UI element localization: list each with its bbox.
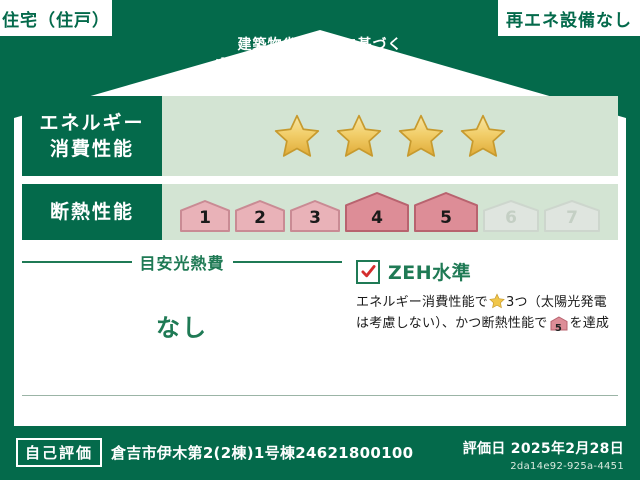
- rule-right: [233, 261, 343, 263]
- zeh-section: ZEH水準 エネルギー消費性能で3つ（太陽光発電 は考慮しない）、かつ断熱性能で…: [342, 250, 618, 400]
- insulation-grade-chip: 1: [179, 199, 231, 233]
- zeh-title: ZEH水準: [388, 258, 471, 285]
- energy-performance-value: [162, 96, 618, 176]
- insulation-grade-chip: 4: [344, 191, 410, 233]
- insulation-grade-scale: 1234567: [179, 191, 601, 233]
- star-icon: [335, 113, 383, 159]
- check-icon: [356, 260, 380, 284]
- energy-performance-label: エネルギー 消費性能: [22, 96, 162, 176]
- badge-renewable-energy-text: 再エネ設備なし: [506, 6, 632, 31]
- insulation-grade-chip: 6: [482, 199, 540, 233]
- header: 建築物省エネ法に基づく 省エネ性能ラベル: [0, 36, 640, 88]
- zeh-description-part2: は考慮しない）、かつ断熱性能で: [356, 316, 548, 331]
- zeh-description: エネルギー消費性能で3つ（太陽光発電 は考慮しない）、かつ断熱性能で5を達成: [356, 292, 618, 338]
- evaluation-date: 評価日 2025年2月28日: [463, 438, 624, 458]
- insulation-performance-label-text: 断熱性能: [50, 199, 134, 225]
- insulation-performance-row: 断熱性能 1234567: [22, 184, 618, 240]
- footer: 自己評価 倉吉市伊木第2(2棟)1号棟24621800100 評価日 2025年…: [0, 430, 640, 480]
- insulation-performance-value: 1234567: [162, 184, 618, 240]
- star-rating: [273, 113, 507, 159]
- page-title: 省エネ性能ラベル: [0, 56, 640, 88]
- star-icon: [273, 113, 321, 159]
- self-evaluation-badge: 自己評価: [16, 438, 102, 467]
- energy-performance-row: エネルギー 消費性能: [22, 96, 618, 176]
- zeh-description-part3: を達成: [570, 316, 610, 331]
- document-id: 2da14e92-925a-4451: [463, 461, 624, 472]
- badge-renewable-energy: 再エネ設備なし: [498, 0, 640, 36]
- property-address: 倉吉市伊木第2(2棟)1号棟24621800100: [111, 442, 413, 463]
- insulation-grade-chip: 7: [543, 199, 601, 233]
- footer-right: 評価日 2025年2月28日 2da14e92-925a-4451: [463, 430, 640, 472]
- insulation-grade-chip-value: 2: [254, 208, 266, 233]
- insulation-grade-chip: 5: [413, 191, 479, 233]
- footer-left: 自己評価 倉吉市伊木第2(2棟)1号棟24621800100: [0, 430, 413, 467]
- insulation-performance-label: 断熱性能: [22, 184, 162, 240]
- energy-performance-label-line1: エネルギー: [39, 110, 144, 136]
- star-icon: [489, 293, 505, 309]
- rule-left: [22, 261, 132, 263]
- energy-performance-label: 住宅（住戸） 再エネ設備なし 建築物省エネ法に基づく 省エネ性能ラベル エネルギ…: [0, 0, 640, 480]
- footer-divider: [22, 395, 618, 396]
- badge-building-type: 住宅（住戸）: [0, 0, 112, 36]
- energy-performance-label-line2: 消費性能: [50, 136, 134, 162]
- insulation-chip-inline-value: 5: [550, 318, 568, 339]
- utility-cost-value: なし: [22, 308, 342, 343]
- insulation-grade-chip-value: 5: [440, 208, 452, 233]
- insulation-grade-chip: 2: [234, 199, 286, 233]
- insulation-grade-chip: 3: [289, 199, 341, 233]
- insulation-grade-chip-value: 3: [309, 208, 321, 233]
- star-icon: [459, 113, 507, 159]
- utility-cost-section: 目安光熱費 なし: [22, 250, 342, 400]
- insulation-chip-inline: 5: [550, 316, 568, 338]
- utility-cost-heading: 目安光熱費: [22, 250, 342, 274]
- star-icon: [397, 113, 445, 159]
- insulation-grade-chip-value: 4: [371, 208, 383, 233]
- panel-content: エネルギー 消費性能 断熱性能 1234567 目安光熱費: [22, 96, 618, 426]
- zeh-description-star-count: 3つ（太陽光発電: [506, 295, 607, 310]
- zeh-heading: ZEH水準: [356, 258, 618, 285]
- header-subtitle: 建築物省エネ法に基づく: [0, 36, 640, 54]
- insulation-grade-chip-value: 7: [566, 208, 578, 233]
- lower-area: 目安光熱費 なし ZEH水準 エネルギー消費性能で3つ（太陽光発電 は考慮: [22, 250, 618, 400]
- badge-building-type-text: 住宅（住戸）: [2, 6, 110, 31]
- insulation-grade-chip-value: 6: [505, 208, 517, 233]
- zeh-description-part1: エネルギー消費性能で: [356, 295, 488, 310]
- utility-cost-heading-text: 目安光熱費: [140, 250, 225, 274]
- insulation-grade-chip-value: 1: [199, 208, 211, 233]
